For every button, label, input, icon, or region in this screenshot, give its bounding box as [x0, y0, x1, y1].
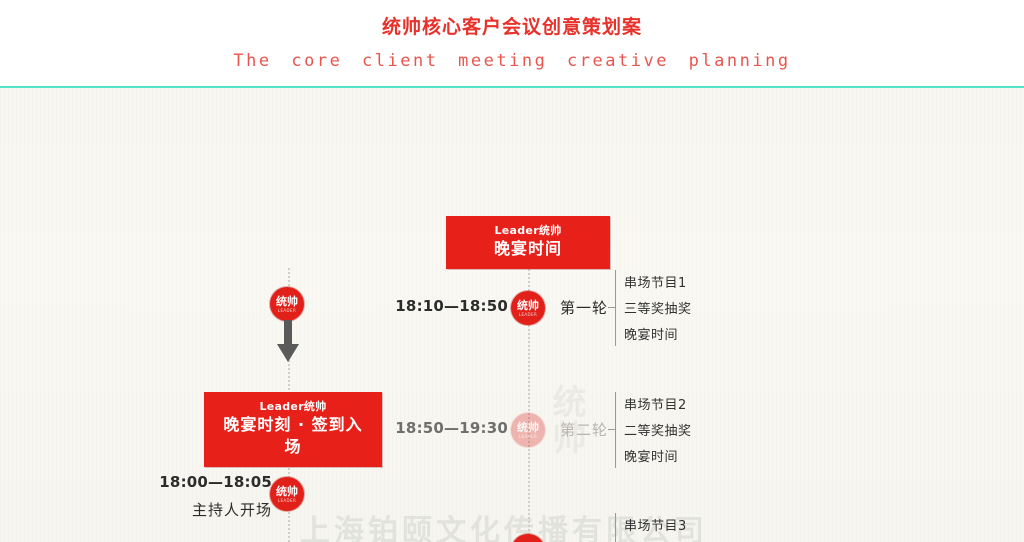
leader-badge-label: 统帅 [270, 287, 304, 307]
list-item: 晚宴时间 [624, 323, 692, 349]
left-row-1-label: 主持人开场 [112, 497, 272, 523]
banner-dinner-main: 晚宴时间 [460, 238, 596, 260]
page-title-cn: 统帅核心客户会议创意策划案 [0, 14, 1024, 40]
banner-dinner-sup: Leader统帅 [460, 223, 596, 238]
list-item: 串场节目3 [624, 514, 692, 540]
list-item: 二等奖抽奖 [624, 419, 692, 445]
bracket-tick [608, 429, 616, 430]
page-title-en: The core client meeting creative plannin… [0, 46, 1024, 76]
bracket-bar [615, 270, 616, 346]
leader-badge-label: 统帅 [511, 291, 545, 311]
right-row-2-round: 第二轮 [560, 419, 608, 440]
bracket-bar [615, 392, 616, 468]
right-row-3-items: 串场节目3 一等奖抽奖 晚宴时间 [624, 514, 692, 542]
slide-page: 统帅核心客户会议创意策划案 The core client meeting cr… [0, 0, 1024, 542]
right-row-1-round: 第一轮 [560, 297, 608, 318]
leader-badge-right-row1: 统帅 LEADER [511, 291, 545, 325]
leader-badge-sublabel: LEADER [270, 309, 304, 313]
down-arrow-icon [277, 320, 299, 364]
leader-badge-label: 统帅 [511, 534, 545, 542]
leader-badge-sublabel: LEADER [511, 313, 545, 317]
leader-badge-label: 统帅 [511, 413, 545, 433]
leader-badge-label: 统帅 [270, 477, 304, 497]
left-row-1-time: 18:00—18:05 [112, 470, 272, 494]
banner-checkin-sup: Leader统帅 [218, 399, 368, 414]
leader-badge-sublabel: LEADER [270, 499, 304, 503]
right-row-2-time: 18:50—19:30 [388, 419, 508, 437]
leader-badge-left-row1: 统帅 LEADER [270, 477, 304, 511]
right-row-2-items: 串场节目2 二等奖抽奖 晚宴时间 [624, 393, 692, 471]
leader-badge-right-row2: 统帅 LEADER [511, 413, 545, 447]
bracket-bar [615, 513, 616, 542]
right-row-1-time: 18:10—18:50 [388, 297, 508, 315]
banner-checkin: Leader统帅 晚宴时刻 · 签到入场 [204, 392, 382, 467]
leader-badge-sublabel: LEADER [511, 435, 545, 439]
list-item: 晚宴时间 [624, 445, 692, 471]
list-item: 串场节目2 [624, 393, 692, 419]
left-row-1: 18:00—18:05 主持人开场 [112, 470, 272, 523]
banner-dinner-time: Leader统帅 晚宴时间 [446, 216, 610, 269]
bracket-tick [608, 307, 616, 308]
leader-badge-right-row3: 统帅 LEADER [511, 534, 545, 542]
right-row-1-items: 串场节目1 三等奖抽奖 晚宴时间 [624, 271, 692, 349]
slide-header: 统帅核心客户会议创意策划案 The core client meeting cr… [0, 0, 1024, 88]
banner-checkin-main: 晚宴时刻 · 签到入场 [218, 414, 368, 458]
watermark-ghost: 统帅 [545, 384, 587, 524]
list-item: 三等奖抽奖 [624, 297, 692, 323]
list-item: 串场节目1 [624, 271, 692, 297]
timeline-canvas: 统帅 上海铂颐文化传播有限公司 www.shbaiyi.com Leader统帅… [0, 88, 1024, 542]
leader-badge-left-top: 统帅 LEADER [270, 287, 304, 321]
